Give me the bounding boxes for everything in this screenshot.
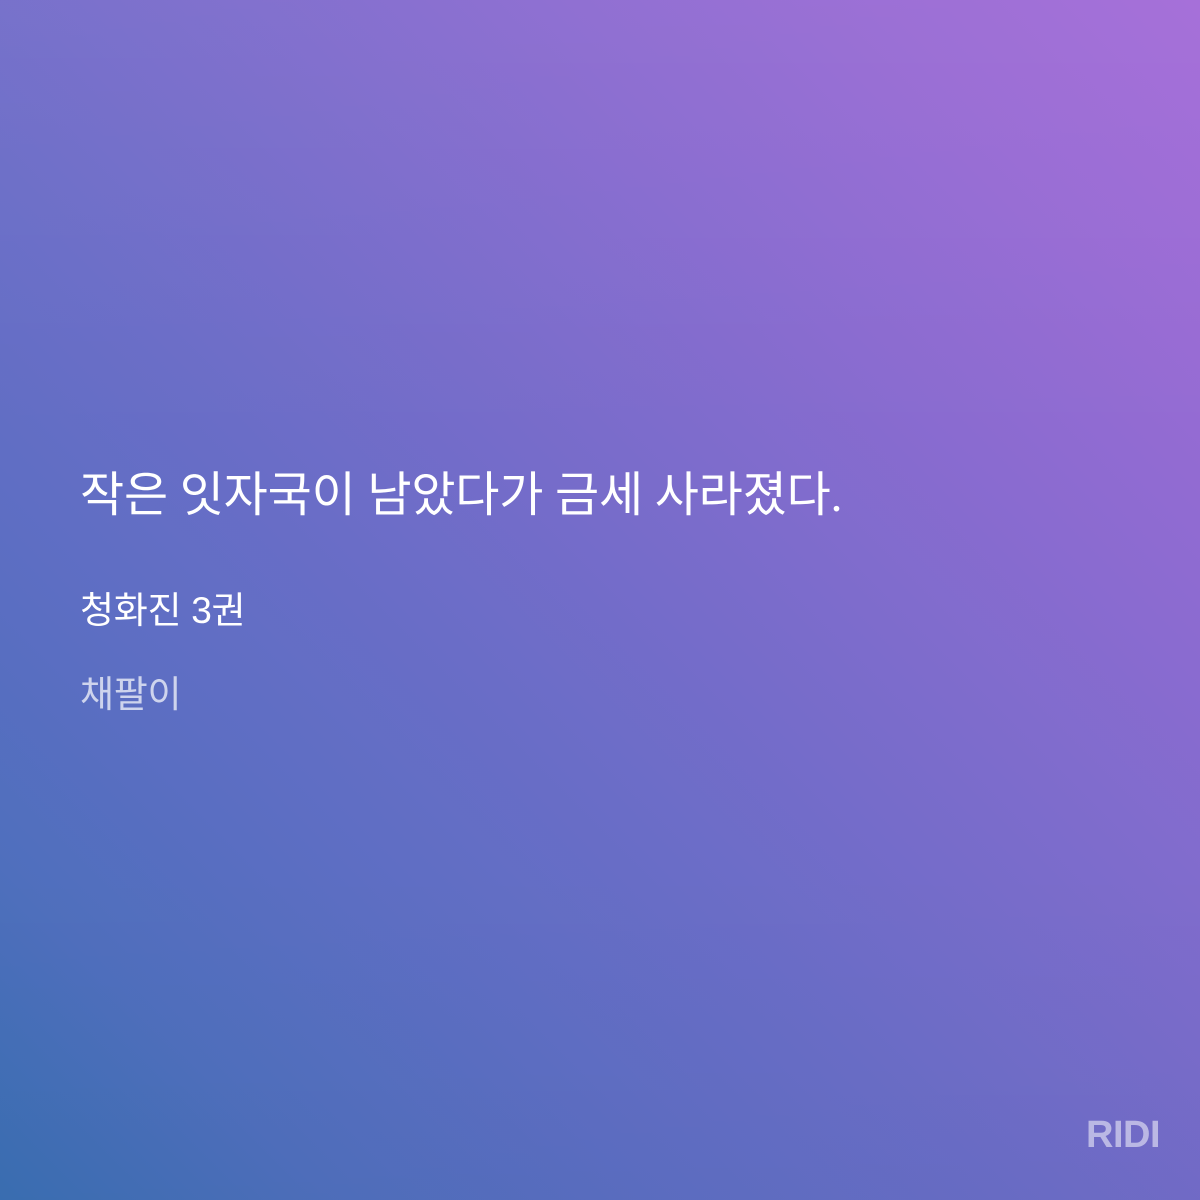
book-title: 청화진 3권: [80, 526, 1100, 634]
quote-share-card: 작은 잇자국이 남았다가 금세 사라졌다. 청화진 3권 채팔이 RIDI: [0, 0, 1200, 1200]
quote-text: 작은 잇자국이 남았다가 금세 사라졌다.: [80, 466, 1100, 526]
quote-text-block: 작은 잇자국이 남았다가 금세 사라졌다. 청화진 3권 채팔이: [80, 466, 1100, 719]
book-author: 채팔이: [80, 634, 1100, 718]
ridi-logo: RIDI: [1086, 1116, 1160, 1154]
